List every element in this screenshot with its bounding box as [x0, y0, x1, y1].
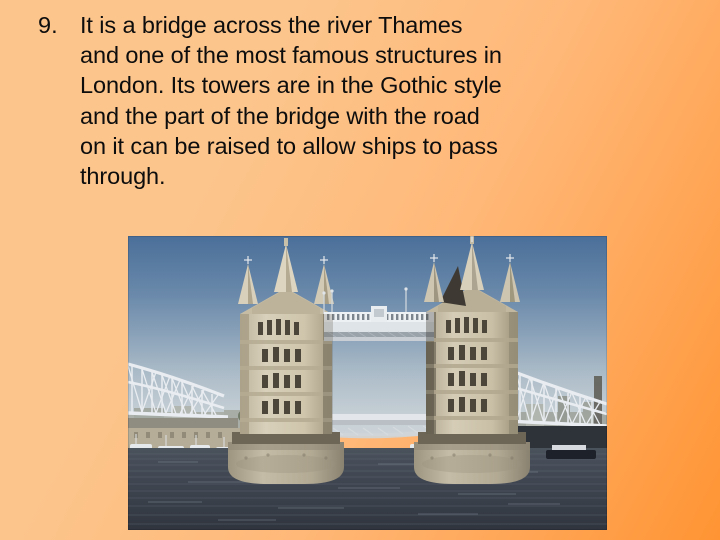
bullet-item: 9. It is a bridge across the river Thame…: [34, 10, 684, 191]
tower-bridge-photo: [128, 236, 607, 530]
bullet-line: and one of the most famous structures in: [80, 40, 684, 70]
slide-canvas: 9. It is a bridge across the river Thame…: [0, 0, 720, 540]
bullet-line: It is a bridge across the river Thames: [80, 10, 684, 40]
tower-bridge-illustration: [128, 236, 607, 530]
bullet-line: and the part of the bridge with the road: [80, 101, 684, 131]
bullet-line: on it can be raised to allow ships to pa…: [80, 131, 684, 161]
bullet-paragraph: It is a bridge across the river Thames a…: [80, 10, 684, 191]
bullet-text-block: 9. It is a bridge across the river Thame…: [34, 10, 684, 191]
bullet-number: 9.: [34, 10, 80, 40]
bullet-line: through.: [80, 161, 684, 191]
bullet-line: London. Its towers are in the Gothic sty…: [80, 70, 684, 100]
river-thames: [128, 448, 607, 530]
walkway-deck: [324, 322, 434, 332]
